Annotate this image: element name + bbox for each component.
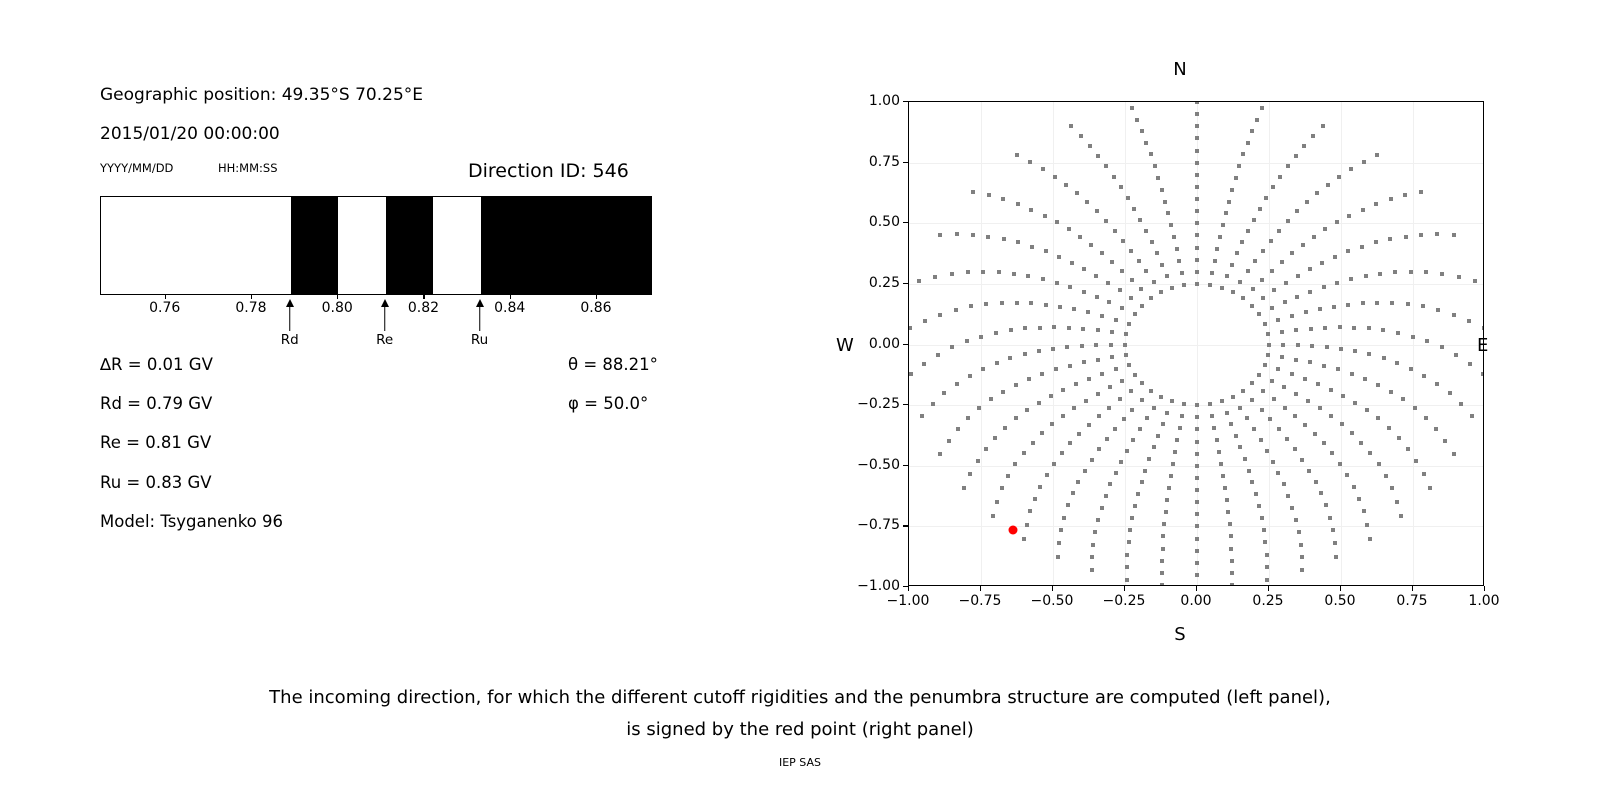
direction-point	[995, 361, 999, 365]
direction-point	[1082, 360, 1086, 364]
direction-point	[1050, 422, 1054, 426]
direction-point	[1368, 451, 1372, 455]
direction-point	[1033, 497, 1037, 501]
direction-point	[1314, 480, 1318, 484]
direction-point	[1195, 282, 1199, 286]
direction-point	[1225, 411, 1229, 415]
direction-point	[1346, 303, 1350, 307]
direction-point	[1093, 530, 1097, 534]
direction-point	[1129, 389, 1133, 393]
direction-point	[931, 402, 935, 406]
direction-point	[1124, 353, 1128, 357]
direction-point	[1125, 578, 1129, 582]
direction-point	[966, 416, 970, 420]
direction-point	[1195, 440, 1199, 444]
direction-point	[1443, 439, 1447, 443]
direction-point	[1143, 469, 1147, 473]
direction-point	[1454, 353, 1458, 357]
direction-point	[1195, 488, 1199, 492]
direction-point	[1252, 427, 1256, 431]
direction-point	[1037, 349, 1041, 353]
direction-point	[1072, 307, 1076, 311]
direction-point	[1195, 464, 1199, 468]
direction-point	[979, 335, 983, 339]
direction-point	[1353, 349, 1357, 353]
direction-point	[1114, 318, 1118, 322]
direction-point	[1350, 431, 1354, 435]
direction-point	[1363, 377, 1367, 381]
direction-point	[1037, 401, 1041, 405]
direction-point	[1090, 555, 1094, 559]
direction-point	[1080, 344, 1084, 348]
direction-point	[1482, 326, 1484, 330]
direction-point	[1195, 149, 1199, 153]
direction-point	[1016, 202, 1020, 206]
direction-point	[1165, 411, 1169, 415]
direction-point	[1221, 223, 1225, 227]
direction-point	[1276, 318, 1280, 322]
direction-point	[987, 193, 991, 197]
x-axis-tick	[1268, 586, 1269, 591]
direction-point	[1195, 573, 1199, 577]
direction-point	[1195, 136, 1199, 140]
direction-point	[1096, 518, 1100, 522]
direction-point	[1276, 471, 1280, 475]
compass-label-east: E	[1477, 335, 1488, 356]
direction-point	[1161, 534, 1165, 538]
direction-point	[1260, 278, 1264, 282]
direction-point	[1126, 196, 1130, 200]
direction-point	[923, 319, 927, 323]
y-axis-tick	[903, 162, 908, 163]
direction-point	[1250, 304, 1254, 308]
direction-point	[908, 326, 912, 330]
direction-point	[1326, 183, 1330, 187]
direction-point	[1107, 300, 1111, 304]
direction-point	[1310, 344, 1314, 348]
direction-point	[1336, 367, 1340, 371]
direction-point	[1088, 144, 1092, 148]
direction-point	[1195, 549, 1199, 553]
direction-point	[1131, 438, 1135, 442]
direction-point	[936, 353, 940, 357]
direction-point	[1238, 280, 1242, 284]
direction-point	[1265, 449, 1269, 453]
direction-point	[1029, 208, 1033, 212]
direction-point	[1260, 106, 1264, 110]
direction-point	[1110, 260, 1114, 264]
direction-point	[1282, 482, 1286, 486]
direction-point	[1419, 190, 1423, 194]
direction-point	[1390, 486, 1394, 490]
direction-point	[947, 439, 951, 443]
direction-point	[1271, 185, 1275, 189]
direction-point	[1360, 245, 1364, 249]
direction-point	[1396, 331, 1400, 335]
direction-point	[1318, 307, 1322, 311]
direction-point	[1140, 480, 1144, 484]
direction-point	[1321, 124, 1325, 128]
direction-point	[1361, 208, 1365, 212]
direction-point	[1130, 106, 1134, 110]
direction-point	[1250, 480, 1254, 484]
direction-point	[1085, 200, 1089, 204]
direction-point	[1241, 296, 1245, 300]
direction-point	[1025, 408, 1029, 412]
direction-point	[1051, 347, 1055, 351]
direction-point	[1084, 399, 1088, 403]
direction-point	[1265, 553, 1269, 557]
direction-point	[1375, 153, 1379, 157]
direction-point	[1038, 485, 1042, 489]
direction-point	[1411, 335, 1415, 339]
direction-point	[1049, 394, 1053, 398]
direction-point	[1378, 272, 1382, 276]
direction-point	[1195, 233, 1199, 237]
direction-point	[1349, 167, 1353, 171]
direction-point	[1125, 553, 1129, 557]
direction-point	[1293, 414, 1297, 418]
y-axis-tick-label: 0.50	[846, 214, 900, 230]
direction-point	[1223, 486, 1227, 490]
direction-point	[1457, 275, 1461, 279]
direction-point	[1015, 153, 1019, 157]
direction-point	[1325, 345, 1329, 349]
y-axis-tick	[903, 283, 908, 284]
direction-point	[1041, 277, 1045, 281]
direction-point	[1023, 326, 1027, 330]
direction-point	[1070, 261, 1074, 265]
direction-point	[1266, 332, 1270, 336]
direction-point	[1082, 267, 1086, 271]
direction-point	[1144, 269, 1148, 273]
direction-point	[1094, 343, 1098, 347]
direction-point	[1381, 328, 1385, 332]
x-axis-tick	[1052, 586, 1053, 591]
direction-point	[1104, 219, 1108, 223]
direction-point	[1124, 332, 1128, 336]
direction-point	[1147, 457, 1151, 461]
direction-point	[1340, 422, 1344, 426]
direction-point	[1428, 486, 1432, 490]
direction-point	[965, 339, 969, 343]
direction-point	[1338, 325, 1342, 329]
direction-point	[1367, 352, 1371, 356]
direction-point	[1177, 259, 1181, 263]
direction-point	[1127, 363, 1131, 367]
direction-point	[1173, 450, 1177, 454]
direction-point	[1302, 144, 1306, 148]
direction-point	[1282, 385, 1286, 389]
direction-point	[1375, 301, 1379, 305]
direction-point	[1251, 287, 1255, 291]
direction-point	[1218, 235, 1222, 239]
caption-line-1: The incoming direction, for which the di…	[0, 687, 1600, 708]
direction-point	[994, 331, 998, 335]
direction-point	[1166, 211, 1170, 215]
direction-point	[1227, 200, 1231, 204]
direction-point	[1169, 474, 1173, 478]
direction-point	[1452, 313, 1456, 317]
direction-point	[1027, 377, 1031, 381]
direction-point	[1094, 274, 1098, 278]
direction-point	[1057, 255, 1061, 259]
direction-point	[1195, 537, 1199, 541]
direction-point	[1160, 263, 1164, 267]
direction-point	[1178, 426, 1182, 430]
direction-point	[1052, 462, 1056, 466]
direction-point	[1250, 129, 1254, 133]
x-axis-tick-label: −0.50	[1031, 593, 1074, 609]
direction-point	[1320, 261, 1324, 265]
direction-point	[984, 447, 988, 451]
y-axis-tick-label: −0.25	[846, 396, 900, 412]
direction-point	[976, 459, 980, 463]
direction-point	[1230, 583, 1234, 586]
direction-point	[1345, 473, 1349, 477]
direction-point	[1195, 197, 1199, 201]
compass-label-north: N	[1173, 59, 1186, 80]
direction-point	[1303, 423, 1307, 427]
x-axis-tick-label: 0.00	[1180, 593, 1211, 609]
direction-point	[1130, 408, 1134, 412]
direction-point	[1156, 176, 1160, 180]
direction-point	[1368, 537, 1372, 541]
direction-point	[1318, 406, 1322, 410]
direction-point	[1296, 343, 1300, 347]
direction-point	[1108, 482, 1112, 486]
direction-point	[1072, 406, 1076, 410]
direction-point	[1012, 272, 1016, 276]
direction-point	[1064, 183, 1068, 187]
direction-point	[1144, 141, 1148, 145]
direction-point	[1382, 356, 1386, 360]
direction-point	[1246, 229, 1250, 233]
direction-point	[1180, 271, 1184, 275]
direction-point	[1359, 441, 1363, 445]
polar-direction-panel: N S W E −1.00−1.00−0.75−0.75−0.50−0.50−0…	[0, 0, 1600, 680]
direction-point	[1150, 240, 1154, 244]
direction-point	[1149, 296, 1153, 300]
gridline-vertical	[981, 102, 982, 585]
direction-point	[1091, 543, 1095, 547]
direction-point	[1300, 555, 1304, 559]
direction-point	[1107, 406, 1111, 410]
direction-point	[1367, 326, 1371, 330]
direction-point	[1257, 373, 1261, 377]
direction-point	[1335, 281, 1339, 285]
direction-point	[1119, 185, 1123, 189]
direction-point	[1286, 219, 1290, 223]
direction-point	[1397, 436, 1401, 440]
direction-point	[1175, 247, 1179, 251]
direction-point	[1118, 397, 1122, 401]
direction-point	[1294, 154, 1298, 158]
direction-point	[1175, 438, 1179, 442]
direction-point	[1258, 207, 1262, 211]
direction-point	[1149, 389, 1153, 393]
direction-point	[1261, 249, 1265, 253]
direction-point	[1388, 237, 1392, 241]
direction-point	[1062, 516, 1066, 520]
direction-point	[1038, 326, 1042, 330]
direction-point	[1362, 160, 1366, 164]
direction-point	[1055, 220, 1059, 224]
direction-point	[1349, 277, 1353, 281]
direction-point	[1082, 290, 1086, 294]
direction-point	[1290, 506, 1294, 510]
direction-point	[1044, 303, 1048, 307]
direction-point	[1170, 399, 1174, 403]
direction-point	[1265, 565, 1269, 569]
direction-point	[1110, 330, 1114, 334]
direction-point	[1015, 301, 1019, 305]
direction-point	[1114, 471, 1118, 475]
direction-point	[1440, 345, 1444, 349]
direction-point	[1078, 235, 1082, 239]
direction-point	[1044, 249, 1048, 253]
direction-point	[1335, 220, 1339, 224]
y-axis-tick	[903, 525, 908, 526]
direction-point	[1076, 480, 1080, 484]
direction-point	[1332, 305, 1336, 309]
direction-point	[1435, 382, 1439, 386]
direction-point	[1283, 406, 1287, 410]
direction-point	[1106, 281, 1110, 285]
direction-point	[1259, 438, 1263, 442]
direction-point	[1234, 176, 1238, 180]
direction-point	[1329, 388, 1333, 392]
direction-point	[1096, 154, 1100, 158]
selected-direction-point[interactable]	[1008, 526, 1017, 535]
y-axis-tick	[903, 222, 908, 223]
direction-point	[989, 397, 993, 401]
direction-point	[984, 302, 988, 306]
direction-point	[1278, 175, 1282, 179]
direction-point	[1237, 164, 1241, 168]
direction-point	[1118, 288, 1122, 292]
direction-point	[1269, 239, 1273, 243]
x-axis-tick-label: −0.25	[1103, 593, 1146, 609]
direction-point	[1096, 328, 1100, 332]
direction-point	[1254, 492, 1258, 496]
direction-point	[1350, 372, 1354, 376]
direction-point	[1040, 431, 1044, 435]
direction-point	[1331, 528, 1335, 532]
direction-point	[1114, 367, 1118, 371]
direction-point	[1052, 325, 1056, 329]
direction-point	[1095, 209, 1099, 213]
direction-point	[1266, 353, 1270, 357]
direction-point	[1264, 196, 1268, 200]
direction-point	[1414, 459, 1418, 463]
direction-point	[1270, 269, 1274, 273]
direction-point	[1294, 328, 1298, 332]
direction-point	[1468, 362, 1472, 366]
direction-point	[1195, 173, 1199, 177]
direction-point	[1213, 259, 1217, 263]
direction-point	[1399, 514, 1403, 518]
direction-point	[962, 486, 966, 490]
direction-point	[1322, 441, 1326, 445]
direction-point	[1362, 509, 1366, 513]
direction-point	[1261, 389, 1265, 393]
direction-point	[1195, 561, 1199, 565]
direction-point	[1013, 462, 1017, 466]
direction-point	[1347, 214, 1351, 218]
direction-point	[969, 304, 973, 308]
direction-point	[1305, 200, 1309, 204]
direction-point	[933, 275, 937, 279]
direction-point	[1221, 474, 1225, 478]
direction-point	[1069, 124, 1073, 128]
direction-point	[1238, 406, 1242, 410]
direction-point	[1260, 516, 1264, 520]
direction-point	[1377, 462, 1381, 466]
direction-point	[1195, 427, 1199, 431]
direction-point	[1152, 280, 1156, 284]
direction-point	[1341, 394, 1345, 398]
direction-point	[1243, 457, 1247, 461]
direction-point	[938, 452, 942, 456]
direction-point	[1230, 559, 1234, 563]
direction-point	[1286, 494, 1290, 498]
direction-point	[1294, 392, 1298, 396]
direction-point	[1409, 270, 1413, 274]
direction-point	[1059, 528, 1063, 532]
direction-point	[1312, 235, 1316, 239]
direction-point	[1195, 524, 1199, 528]
direction-point	[1208, 283, 1212, 287]
direction-point	[1238, 445, 1242, 449]
direction-point	[1260, 408, 1264, 412]
direction-point	[1156, 434, 1160, 438]
direction-point	[1125, 449, 1129, 453]
y-axis-tick-label: 1.00	[846, 93, 900, 109]
x-axis-tick-label: 0.25	[1252, 593, 1283, 609]
direction-point	[1435, 232, 1439, 236]
y-axis-tick-label: −0.50	[846, 457, 900, 473]
direction-point	[1030, 245, 1034, 249]
direction-point	[1041, 167, 1045, 171]
x-axis-tick-label: 0.50	[1324, 593, 1355, 609]
direction-point	[1309, 327, 1313, 331]
direction-point	[1422, 472, 1426, 476]
direction-point	[1081, 327, 1085, 331]
direction-point	[1135, 118, 1139, 122]
direction-point	[1304, 310, 1308, 314]
direction-point	[909, 372, 913, 376]
direction-point	[1120, 306, 1124, 310]
direction-point	[1357, 497, 1361, 501]
direction-point	[1365, 408, 1369, 412]
direction-point	[1160, 583, 1164, 586]
direction-point	[1125, 565, 1129, 569]
direction-point	[1257, 504, 1261, 508]
direction-point	[1138, 427, 1142, 431]
direction-point	[1108, 385, 1112, 389]
direction-point	[1306, 399, 1310, 403]
direction-point	[1329, 414, 1333, 418]
direction-point	[1053, 175, 1057, 179]
direction-point	[1365, 523, 1369, 527]
y-axis-tick-label: 0.25	[846, 275, 900, 291]
direction-point	[1241, 389, 1245, 393]
direction-point	[1308, 290, 1312, 294]
direction-point	[1220, 286, 1224, 290]
direction-point	[1165, 274, 1169, 278]
direction-point	[1129, 296, 1133, 300]
